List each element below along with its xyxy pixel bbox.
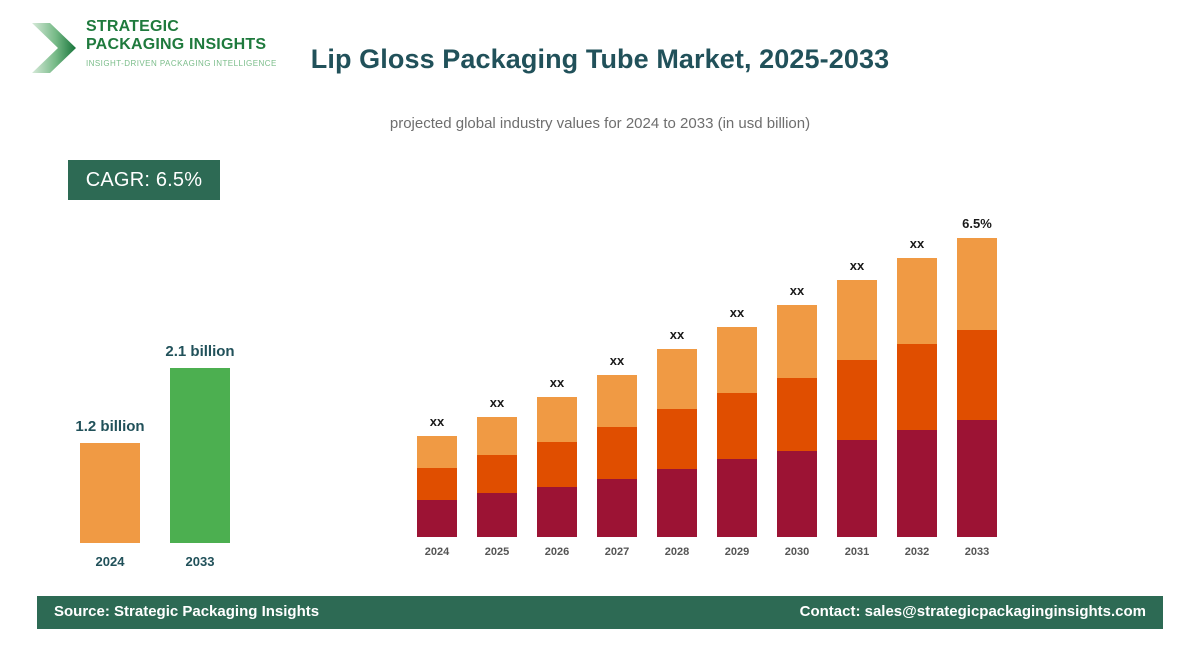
stacked-bar-segment (537, 397, 577, 442)
stacked-bar-segment (477, 493, 517, 537)
stacked-bar-year-label: 2031 (837, 546, 877, 558)
summary-bar-year-label: 2033 (170, 554, 230, 569)
summary-bar-value-label: 1.2 billion (30, 418, 190, 435)
stacked-bar (717, 327, 757, 537)
summary-bar-value-label: 2.1 billion (120, 343, 280, 360)
footer-contact-text: Contact: sales@strategicpackaginginsight… (800, 603, 1146, 620)
stacked-bar-segment (717, 459, 757, 537)
stacked-bar (777, 305, 817, 537)
stacked-bar-segment (837, 360, 877, 440)
stacked-bar (477, 417, 517, 537)
stacked-bar-segment (777, 378, 817, 451)
summary-bar (170, 368, 230, 543)
summary-bar-group: 1.2 billion2024 (80, 368, 140, 543)
footer-bar: Source: Strategic Packaging Insights Con… (37, 596, 1163, 629)
stacked-bar-year-label: 2033 (957, 546, 997, 558)
stacked-bar-year-label: 2024 (417, 546, 457, 558)
stacked-bar (417, 436, 457, 537)
summary-bar-chart: 1.2 billion20242.1 billion2033 (60, 300, 320, 570)
summary-bar-year-label: 2024 (80, 554, 140, 569)
stacked-bar-year-label: 2025 (477, 546, 517, 558)
stacked-bar-segment (417, 468, 457, 500)
stacked-bar-value-label: xx (452, 395, 542, 410)
stacked-bar-value-label: xx (572, 353, 662, 368)
page-subtitle: projected global industry values for 202… (0, 115, 1200, 132)
stacked-bar-segment (657, 409, 697, 469)
stacked-bar-segment (957, 330, 997, 420)
stacked-bar-value-label: xx (812, 258, 902, 273)
stacked-bar-year-label: 2032 (897, 546, 937, 558)
stacked-bar-segment (657, 349, 697, 409)
stacked-bar-segment (597, 479, 637, 537)
stacked-bar-value-label: 6.5% (932, 216, 1022, 231)
stacked-bar-value-label: xx (512, 375, 602, 390)
stacked-bar-segment (477, 417, 517, 455)
stacked-bar (537, 397, 577, 537)
stacked-bar-segment (417, 500, 457, 537)
summary-bar (80, 443, 140, 543)
stacked-bar-segment (777, 451, 817, 537)
stacked-bar-segment (837, 440, 877, 537)
stacked-bar-segment (477, 455, 517, 493)
stacked-bar (837, 280, 877, 537)
stacked-bar-year-label: 2028 (657, 546, 697, 558)
projection-stacked-bar-chart: xx2024xx2025xx2026xx2027xx2028xx2029xx20… (400, 200, 1020, 560)
logo-line-1: STRATEGIC (86, 18, 277, 36)
stacked-bar-segment (597, 375, 637, 427)
stacked-bar-value-label: xx (872, 236, 962, 251)
stacked-bar-segment (537, 442, 577, 487)
stacked-bar-segment (777, 305, 817, 378)
stacked-bar-segment (537, 487, 577, 537)
stacked-bar (657, 349, 697, 537)
stacked-bar-segment (597, 427, 637, 479)
stacked-bar-year-label: 2027 (597, 546, 637, 558)
stacked-bar-segment (897, 344, 937, 430)
stacked-bar-segment (957, 238, 997, 330)
stacked-bar-value-label: xx (392, 414, 482, 429)
stacked-bar-segment (897, 430, 937, 537)
stacked-bar-segment (957, 420, 997, 537)
stacked-bar (597, 375, 637, 537)
stacked-bar-year-label: 2029 (717, 546, 757, 558)
stacked-bar-value-label: xx (692, 305, 782, 320)
summary-bar-group: 2.1 billion2033 (170, 368, 230, 543)
stacked-bar (897, 258, 937, 537)
stacked-bar-segment (657, 469, 697, 537)
stacked-bar-year-label: 2026 (537, 546, 577, 558)
stacked-bar-year-label: 2030 (777, 546, 817, 558)
stacked-bar (957, 238, 997, 537)
stacked-bar-segment (417, 436, 457, 468)
stacked-bar-segment (717, 393, 757, 459)
page-title: Lip Gloss Packaging Tube Market, 2025-20… (0, 44, 1200, 75)
stacked-bar-segment (897, 258, 937, 344)
stacked-bar-value-label: xx (632, 327, 722, 342)
stacked-bar-segment (717, 327, 757, 393)
footer-source-text: Source: Strategic Packaging Insights (54, 603, 319, 620)
stacked-bar-segment (837, 280, 877, 360)
stacked-bar-value-label: xx (752, 283, 842, 298)
cagr-badge: CAGR: 6.5% (68, 160, 220, 200)
